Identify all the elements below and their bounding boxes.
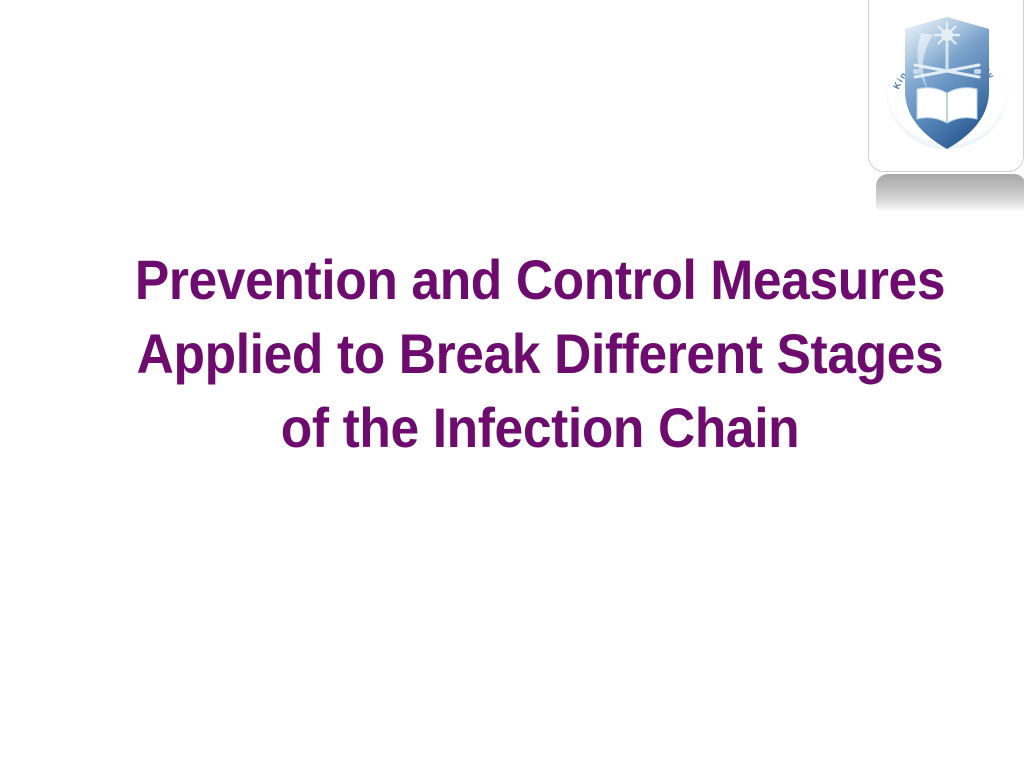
- title-line-3: of the Infection Chain: [115, 391, 965, 465]
- slide-canvas: King Saud University 1957: [0, 0, 1024, 760]
- logo-card: King Saud University 1957: [868, 0, 1024, 172]
- title-line-2: Applied to Break Different Stages: [115, 317, 965, 391]
- university-logo: King Saud University 1957: [868, 0, 1024, 212]
- logo-reflection: [876, 174, 1024, 212]
- page-title: Prevention and Control Measures Applied …: [78, 243, 1002, 465]
- king-saud-university-shield-icon: King Saud University 1957: [875, 0, 1019, 167]
- title-line-1: Prevention and Control Measures: [115, 243, 965, 317]
